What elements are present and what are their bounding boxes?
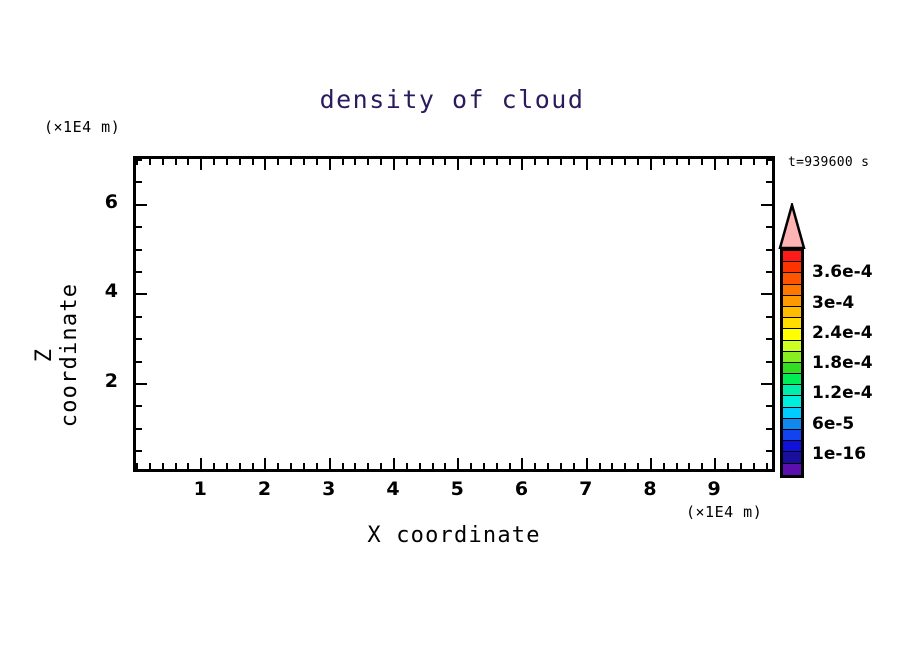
axis-tick bbox=[599, 159, 601, 165]
axis-tick bbox=[766, 450, 772, 452]
axis-tick bbox=[136, 293, 147, 295]
axis-tick bbox=[264, 159, 266, 170]
axis-tick bbox=[688, 159, 690, 165]
axis-tick bbox=[136, 271, 142, 273]
axis-tick bbox=[380, 159, 382, 165]
y-axis-label: Z coordinate bbox=[32, 275, 82, 435]
axis-tick bbox=[470, 463, 472, 469]
axis-tick bbox=[637, 463, 639, 469]
axis-tick bbox=[380, 463, 382, 469]
axis-tick bbox=[761, 383, 772, 385]
axis-tick bbox=[444, 463, 446, 469]
axis-tick bbox=[136, 159, 142, 161]
axis-tick bbox=[136, 383, 147, 385]
colorbar-band bbox=[783, 363, 801, 374]
axis-tick bbox=[393, 159, 395, 170]
axis-tick bbox=[277, 463, 279, 469]
x-tick-label: 1 bbox=[180, 478, 220, 500]
axis-tick bbox=[162, 159, 164, 165]
y-tick-label: 2 bbox=[88, 370, 118, 392]
axis-tick bbox=[560, 159, 562, 165]
page-title: density of cloud bbox=[0, 85, 904, 114]
axis-tick bbox=[226, 159, 228, 165]
axis-tick bbox=[406, 463, 408, 469]
x-tick-label: 4 bbox=[373, 478, 413, 500]
axis-tick bbox=[444, 159, 446, 165]
axis-tick bbox=[496, 159, 498, 165]
axis-tick bbox=[200, 159, 202, 170]
axis-tick bbox=[599, 463, 601, 469]
axis-tick bbox=[637, 159, 639, 165]
axis-tick bbox=[149, 159, 151, 165]
axis-tick bbox=[663, 159, 665, 165]
axis-tick bbox=[753, 159, 755, 165]
axis-tick bbox=[701, 463, 703, 469]
axis-tick bbox=[226, 463, 228, 469]
axis-tick bbox=[766, 338, 772, 340]
axis-tick bbox=[547, 463, 549, 469]
colorbar-band bbox=[783, 307, 801, 318]
colorbar-label: 3.6e-4 bbox=[812, 262, 873, 282]
axis-tick bbox=[521, 458, 523, 469]
axis-tick bbox=[187, 159, 189, 165]
time-annotation: t=939600 s bbox=[788, 155, 869, 170]
axis-tick bbox=[650, 159, 652, 170]
axis-tick bbox=[766, 181, 772, 183]
colorbar-band bbox=[783, 341, 801, 352]
colorbar-band bbox=[783, 273, 801, 284]
axis-tick bbox=[470, 159, 472, 165]
axis-tick bbox=[766, 463, 768, 469]
axis-tick bbox=[136, 463, 138, 469]
colorbar-label: 3e-4 bbox=[812, 293, 854, 313]
axis-tick bbox=[175, 159, 177, 165]
axis-tick bbox=[162, 463, 164, 469]
axis-tick bbox=[509, 463, 511, 469]
axis-tick bbox=[342, 463, 344, 469]
axis-tick bbox=[367, 463, 369, 469]
axis-tick bbox=[329, 458, 331, 469]
colorbar-band bbox=[783, 285, 801, 296]
axis-tick bbox=[766, 159, 772, 161]
axis-tick bbox=[766, 249, 772, 251]
colorbar-band bbox=[783, 251, 801, 262]
axis-tick bbox=[136, 226, 142, 228]
axis-tick bbox=[432, 159, 434, 165]
axis-tick bbox=[239, 159, 241, 165]
axis-tick bbox=[483, 159, 485, 165]
axis-tick bbox=[688, 463, 690, 469]
x-tick-label: 7 bbox=[566, 478, 606, 500]
x-tick-label: 2 bbox=[244, 478, 284, 500]
axis-tick bbox=[509, 159, 511, 165]
axis-tick bbox=[766, 271, 772, 273]
axis-tick bbox=[624, 159, 626, 165]
y-tick-label: 6 bbox=[88, 191, 118, 213]
axis-tick bbox=[290, 463, 292, 469]
axis-tick bbox=[136, 450, 142, 452]
axis-tick bbox=[766, 316, 772, 318]
axis-tick bbox=[740, 463, 742, 469]
axis-tick bbox=[740, 159, 742, 165]
axis-tick bbox=[316, 463, 318, 469]
y-axis-units-label: (×1E4 m) bbox=[44, 118, 120, 136]
colorbar-label: 1.8e-4 bbox=[812, 353, 873, 373]
axis-tick bbox=[766, 405, 772, 407]
axis-tick bbox=[714, 159, 716, 170]
axis-tick bbox=[496, 463, 498, 469]
colorbar-band bbox=[783, 385, 801, 396]
axis-tick bbox=[650, 458, 652, 469]
axis-tick bbox=[547, 159, 549, 165]
axis-tick bbox=[676, 159, 678, 165]
axis-tick bbox=[483, 463, 485, 469]
colorbar-band bbox=[783, 374, 801, 385]
colorbar-band bbox=[783, 318, 801, 329]
x-tick-label: 8 bbox=[630, 478, 670, 500]
axis-tick bbox=[419, 159, 421, 165]
axis-tick bbox=[329, 159, 331, 170]
axis-tick bbox=[303, 463, 305, 469]
plot-frame bbox=[133, 156, 775, 472]
axis-tick bbox=[213, 463, 215, 469]
axis-tick bbox=[213, 159, 215, 165]
axis-tick bbox=[149, 463, 151, 469]
axis-tick bbox=[303, 159, 305, 165]
axis-tick bbox=[432, 463, 434, 469]
axis-tick bbox=[264, 458, 266, 469]
axis-tick bbox=[753, 463, 755, 469]
colorbar-band bbox=[783, 352, 801, 363]
axis-tick bbox=[406, 159, 408, 165]
y-tick-label: 4 bbox=[88, 280, 118, 302]
colorbar-band bbox=[783, 419, 801, 430]
axis-tick bbox=[714, 458, 716, 469]
axis-tick bbox=[766, 226, 772, 228]
axis-tick bbox=[761, 293, 772, 295]
axis-tick bbox=[367, 159, 369, 165]
x-tick-label: 9 bbox=[694, 478, 734, 500]
axis-tick bbox=[252, 159, 254, 165]
axis-tick bbox=[136, 428, 142, 430]
colorbar-label: 6e-5 bbox=[812, 414, 854, 434]
axis-tick bbox=[663, 463, 665, 469]
colorbar-band bbox=[783, 408, 801, 419]
axis-tick bbox=[277, 159, 279, 165]
axis-tick bbox=[457, 458, 459, 469]
x-tick-label: 5 bbox=[437, 478, 477, 500]
axis-tick bbox=[200, 458, 202, 469]
axis-tick bbox=[761, 204, 772, 206]
colorbar-band bbox=[783, 441, 801, 452]
axis-tick bbox=[534, 463, 536, 469]
colorbar-band bbox=[783, 464, 801, 475]
axis-tick bbox=[316, 159, 318, 165]
axis-tick bbox=[573, 463, 575, 469]
axis-tick bbox=[727, 159, 729, 165]
axis-tick bbox=[611, 159, 613, 165]
axis-tick bbox=[766, 428, 772, 430]
axis-tick bbox=[457, 159, 459, 170]
axis-tick bbox=[136, 405, 142, 407]
axis-tick bbox=[252, 463, 254, 469]
axis-tick bbox=[676, 463, 678, 469]
axis-tick bbox=[393, 458, 395, 469]
colorbar-band bbox=[783, 396, 801, 407]
colorbar bbox=[780, 248, 804, 478]
axis-tick bbox=[624, 463, 626, 469]
colorbar-band bbox=[783, 452, 801, 463]
axis-tick bbox=[534, 159, 536, 165]
x-tick-label: 6 bbox=[501, 478, 541, 500]
x-axis-units-label: (×1E4 m) bbox=[686, 503, 762, 521]
axis-tick bbox=[136, 338, 142, 340]
axis-tick bbox=[290, 159, 292, 165]
axis-tick bbox=[136, 316, 142, 318]
axis-tick bbox=[560, 463, 562, 469]
axis-tick bbox=[727, 463, 729, 469]
axis-tick bbox=[187, 463, 189, 469]
axis-tick bbox=[586, 458, 588, 469]
axis-tick bbox=[354, 463, 356, 469]
colorbar-band bbox=[783, 329, 801, 340]
colorbar-label: 2.4e-4 bbox=[812, 323, 873, 343]
colorbar-label: 1.2e-4 bbox=[812, 383, 873, 403]
axis-tick bbox=[342, 159, 344, 165]
axis-tick bbox=[239, 463, 241, 469]
colorbar-label: 1e-16 bbox=[812, 444, 866, 464]
axis-tick bbox=[419, 463, 421, 469]
colorbar-band bbox=[783, 262, 801, 273]
axis-tick bbox=[136, 181, 142, 183]
x-tick-label: 3 bbox=[309, 478, 349, 500]
colorbar-arrow-cap bbox=[778, 203, 806, 249]
colorbar-band bbox=[783, 296, 801, 307]
axis-tick bbox=[136, 249, 142, 251]
axis-tick bbox=[766, 361, 772, 363]
x-axis-label: X coordinate bbox=[133, 523, 775, 548]
axis-tick bbox=[136, 204, 147, 206]
axis-tick bbox=[701, 159, 703, 165]
axis-tick bbox=[354, 159, 356, 165]
axis-tick bbox=[521, 159, 523, 170]
axis-tick bbox=[573, 159, 575, 165]
axis-tick bbox=[175, 463, 177, 469]
axis-tick bbox=[586, 159, 588, 170]
axis-tick bbox=[611, 463, 613, 469]
colorbar-band bbox=[783, 430, 801, 441]
axis-tick bbox=[136, 361, 142, 363]
